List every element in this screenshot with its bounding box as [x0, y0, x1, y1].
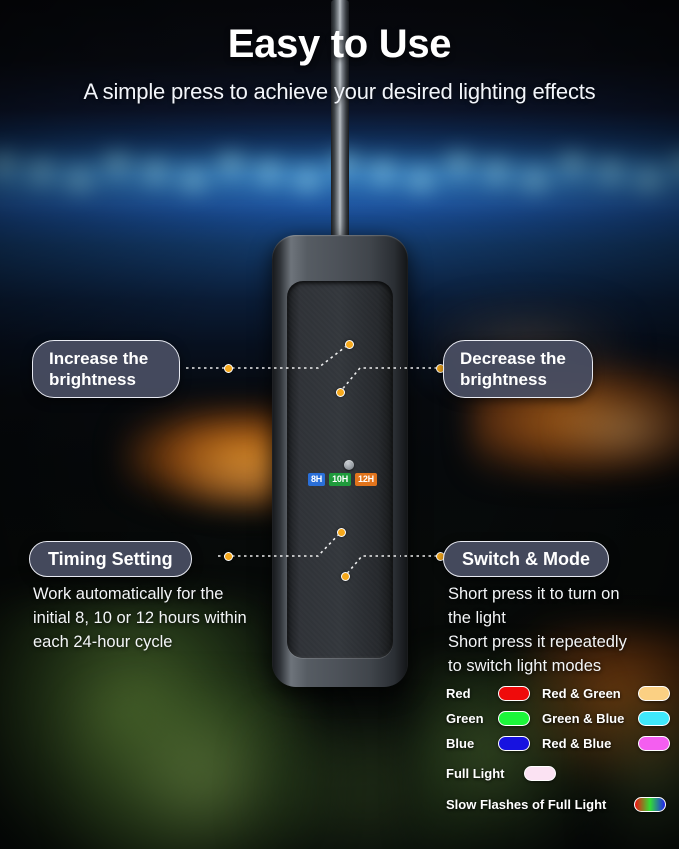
legend-swatch-blue [498, 736, 530, 751]
legend-row: Green Green & Blue [446, 706, 679, 731]
switch-description: Short press it to turn on the light Shor… [448, 582, 673, 678]
callout-timing-setting: Timing Setting [29, 541, 192, 577]
legend-item-red-blue: Red & Blue [542, 736, 670, 751]
switch-description-line2: the light [448, 606, 673, 630]
legend-swatch-red [498, 686, 530, 701]
callout-increase-line1: Increase the [49, 348, 148, 369]
connector-node-plus-button [345, 340, 354, 349]
legend-label-red-blue: Red & Blue [542, 736, 638, 751]
callout-decrease-brightness: Decrease the brightness [443, 340, 593, 398]
legend-swatch-red-green [638, 686, 670, 701]
timing-description: Work automatically for the initial 8, 10… [33, 582, 253, 654]
connector-node-power-button [341, 572, 350, 581]
legend-item-slow-flashes: Slow Flashes of Full Light [446, 791, 679, 818]
callout-decrease-line2: brightness [460, 369, 566, 390]
legend-label-blue: Blue [446, 736, 498, 751]
legend-item-full-light: Full Light [446, 760, 679, 787]
legend-label-full-light: Full Light [446, 766, 524, 781]
connector-node-timing-pill [224, 552, 233, 561]
legend-item-green: Green [446, 711, 542, 726]
legend-label-green: Green [446, 711, 498, 726]
legend-item-blue: Blue [446, 736, 542, 751]
page-title: Easy to Use [0, 22, 679, 67]
callout-increase-line2: brightness [49, 369, 148, 390]
switch-description-line1: Short press it to turn on [448, 582, 673, 606]
light-mode-legend: Red Red & Green Green Green & Blue Blue [446, 681, 679, 818]
legend-item-red: Red [446, 686, 542, 701]
legend-swatch-green-blue [638, 711, 670, 726]
legend-item-green-blue: Green & Blue [542, 711, 670, 726]
legend-row: Blue Red & Blue [446, 731, 679, 756]
switch-description-line3: Short press it repeatedly [448, 630, 673, 654]
legend-label-green-blue: Green & Blue [542, 711, 638, 726]
switch-description-line4: to switch light modes [448, 654, 673, 678]
page-subtitle: A simple press to achieve your desired l… [0, 79, 679, 105]
callout-timing-label: Timing Setting [48, 548, 173, 570]
callout-increase-brightness: Increase the brightness [32, 340, 180, 398]
legend-label-red: Red [446, 686, 498, 701]
callout-switch-mode: Switch & Mode [443, 541, 609, 577]
legend-swatch-green [498, 711, 530, 726]
header: Easy to Use A simple press to achieve yo… [0, 0, 679, 105]
legend-label-red-green: Red & Green [542, 686, 638, 701]
infographic-canvas: Easy to Use A simple press to achieve yo… [0, 0, 679, 849]
connector-node-minus-button [336, 388, 345, 397]
legend-row: Red Red & Green [446, 681, 679, 706]
callout-decrease-line1: Decrease the [460, 348, 566, 369]
legend-swatch-slow-flashes [634, 797, 666, 812]
legend-item-red-green: Red & Green [542, 686, 670, 701]
legend-swatch-full-light [524, 766, 556, 781]
connector-node-increase-pill [224, 364, 233, 373]
legend-swatch-red-blue [638, 736, 670, 751]
connector-node-timer-button [337, 528, 346, 537]
legend-label-slow-flashes: Slow Flashes of Full Light [446, 797, 634, 812]
callout-switch-label: Switch & Mode [462, 548, 590, 570]
